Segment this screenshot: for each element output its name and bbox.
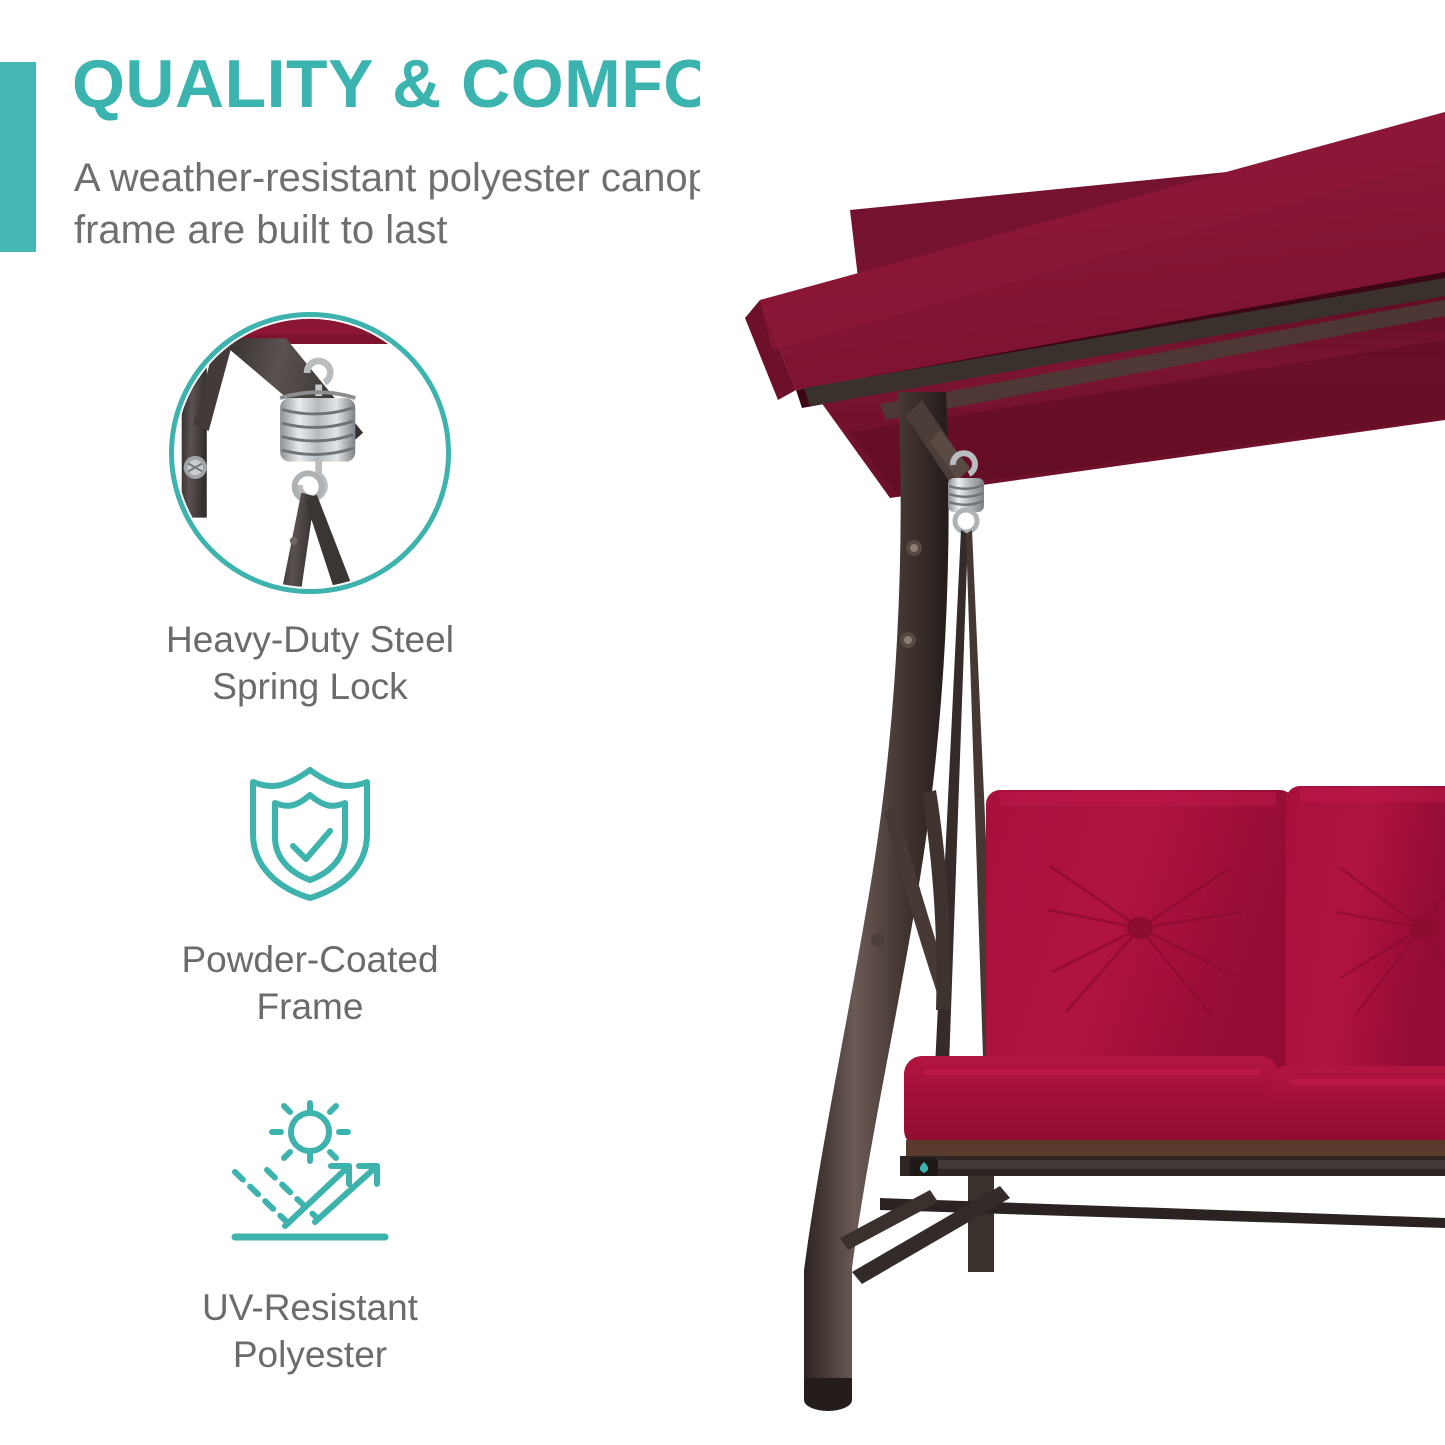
uv-reflect-icon bbox=[225, 1100, 395, 1260]
feature-caption: Powder-Coated Frame bbox=[60, 936, 560, 1030]
spring-lock-photo bbox=[169, 312, 451, 594]
feature-caption: UV-Resistant Polyester bbox=[60, 1284, 560, 1378]
page-title: QUALITY & COMFORT bbox=[72, 48, 808, 120]
feature-heavy-duty-steel-spring-lock: Heavy-Duty Steel Spring Lock bbox=[60, 312, 560, 710]
feature-uv-resistant-polyester: UV-Resistant Polyester bbox=[60, 1100, 560, 1378]
shield-check-icon bbox=[235, 760, 385, 910]
infographic-canvas: QUALITY & COMFORT A weather-resistant po… bbox=[0, 0, 1445, 1445]
feature-caption: Heavy-Duty Steel Spring Lock bbox=[60, 616, 560, 710]
product-image-patio-swing bbox=[700, 0, 1445, 1445]
feature-powder-coated-frame: Powder-Coated Frame bbox=[60, 760, 560, 1030]
accent-bar bbox=[0, 62, 36, 252]
